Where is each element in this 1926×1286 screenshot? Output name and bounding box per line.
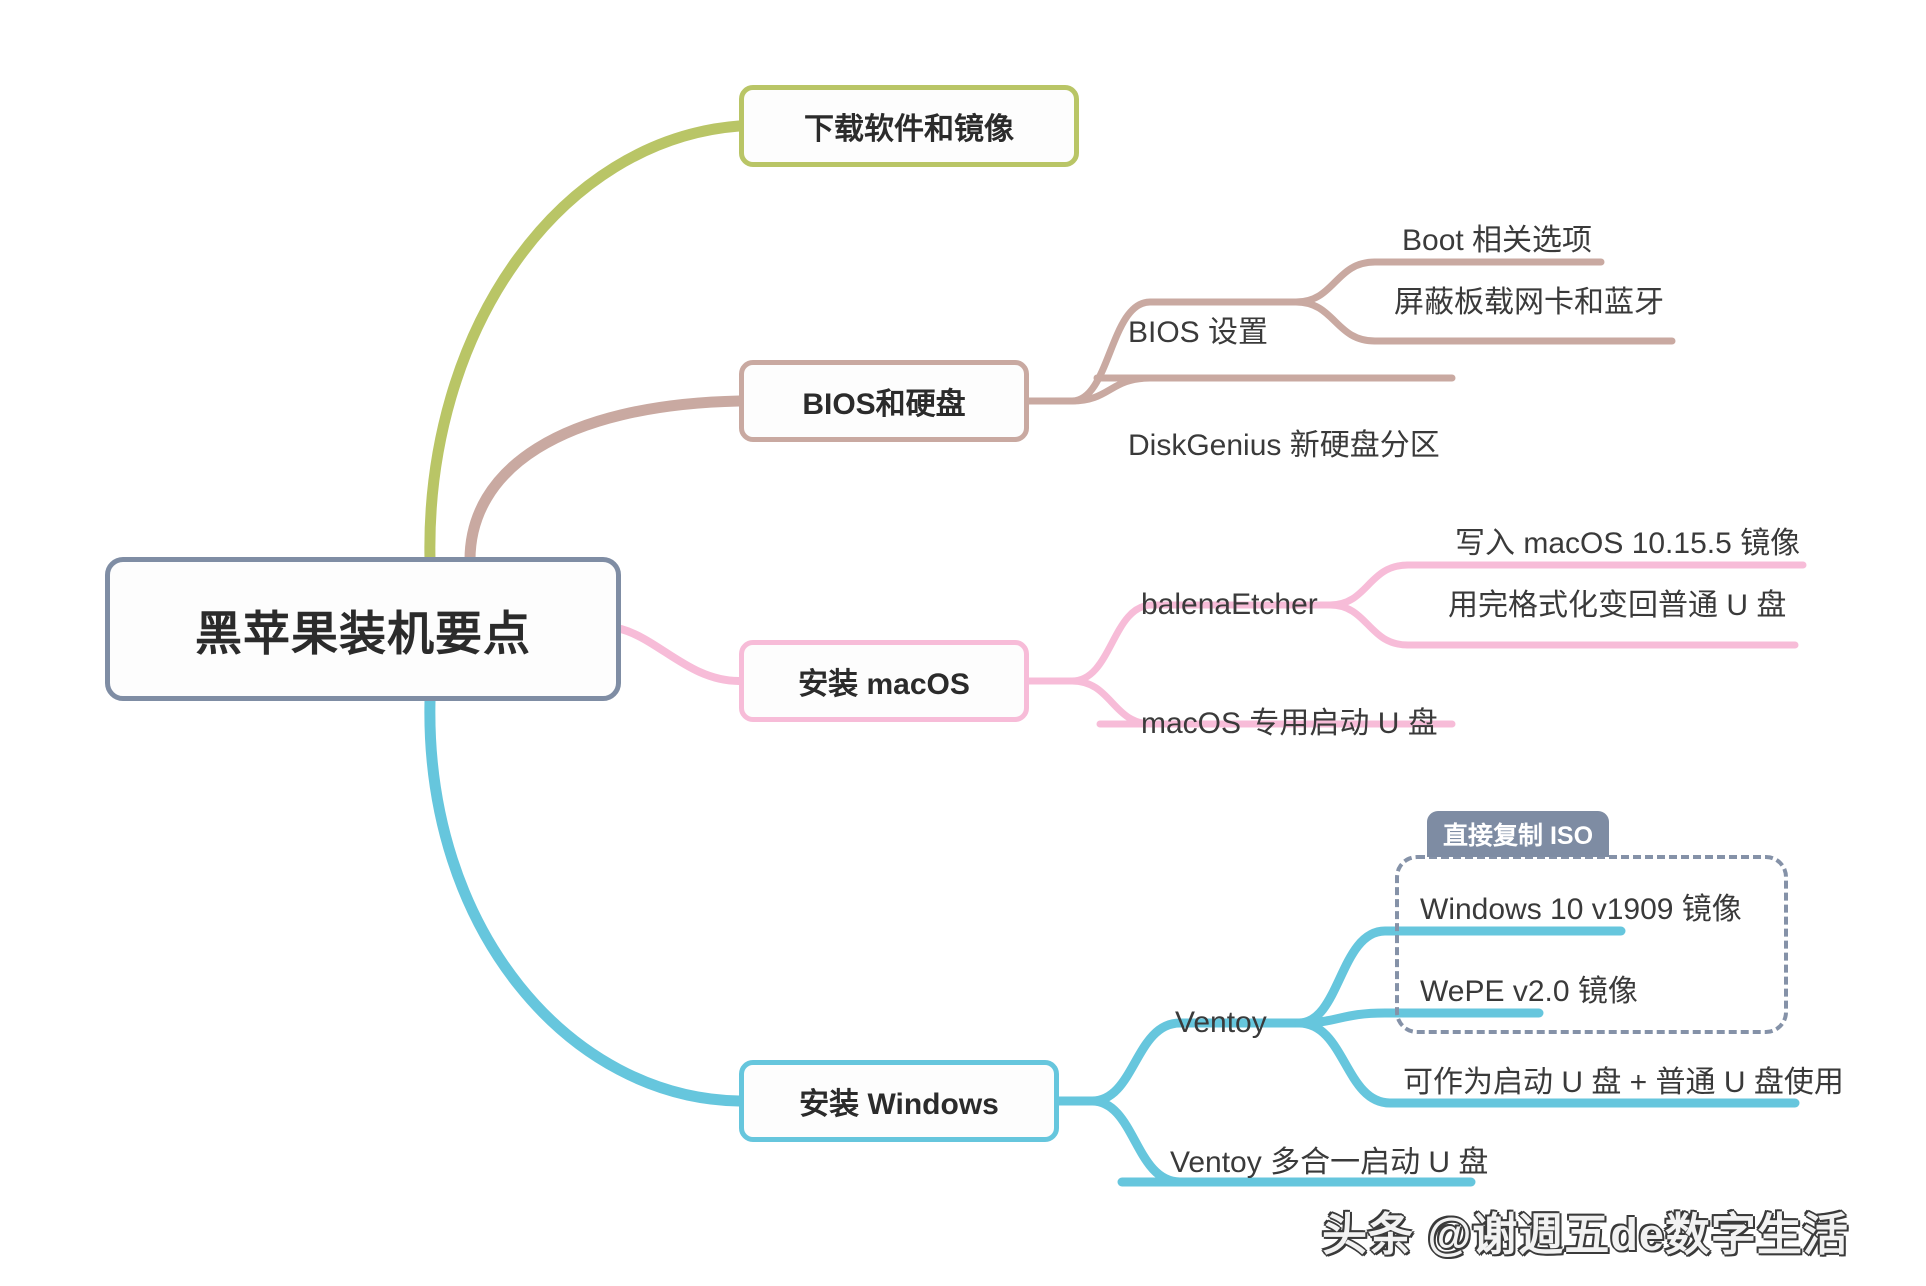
leaf-disable-onboard[interactable]: 屏蔽板载网卡和蓝牙	[1394, 288, 1664, 318]
branch-node-download-label: 下载软件和镜像	[804, 104, 1014, 148]
edge-root-download	[430, 126, 739, 560]
branch-node-bios[interactable]: BIOS和硬盘	[739, 360, 1029, 442]
summary-group-title[interactable]: 直接复制 ISO	[1427, 811, 1609, 857]
leaf-usb-dual-use[interactable]: 可作为启动 U 盘 + 普通 U 盘使用	[1403, 1068, 1844, 1098]
edge-root-bios	[470, 401, 739, 560]
summary-group-title-label: 直接复制 ISO	[1443, 816, 1593, 852]
branch-node-download[interactable]: 下载软件和镜像	[739, 85, 1079, 167]
mindmap-canvas: 黑苹果装机要点 下载软件和镜像 BIOS和硬盘 安装 macOS 安装 Wind…	[0, 0, 1926, 1286]
leaf-format-back-usb[interactable]: 用完格式化变回普通 U 盘	[1448, 591, 1786, 621]
leaf-write-macos-image[interactable]: 写入 macOS 10.15.5 镜像	[1455, 529, 1800, 559]
branch-node-windows[interactable]: 安装 Windows	[739, 1060, 1059, 1142]
branch-node-macos[interactable]: 安装 macOS	[739, 640, 1029, 722]
root-node[interactable]: 黑苹果装机要点	[105, 557, 621, 701]
edge-root-macos	[621, 629, 739, 681]
edge-bios-diskgenius	[1072, 378, 1172, 401]
leaf-boot-options[interactable]: Boot 相关选项	[1402, 226, 1592, 256]
branch-node-bios-label: BIOS和硬盘	[802, 379, 965, 423]
root-node-label: 黑苹果装机要点	[195, 595, 531, 664]
leaf-balena-etcher[interactable]: balenaEtcher	[1141, 590, 1318, 620]
summary-group-box	[1395, 855, 1788, 1034]
watermark: 头条 @谢週五de数字生活	[1322, 1198, 1849, 1263]
leaf-ventoy[interactable]: Ventoy	[1175, 1008, 1267, 1038]
leaf-diskgenius[interactable]: DiskGenius 新硬盘分区	[1128, 431, 1440, 461]
edge-root-windows	[430, 701, 739, 1101]
branch-node-windows-label: 安装 Windows	[799, 1079, 999, 1123]
branch-node-macos-label: 安装 macOS	[798, 659, 970, 703]
edge-ventoy-usage	[1299, 1023, 1420, 1103]
leaf-ventoy-multiboot[interactable]: Ventoy 多合一启动 U 盘	[1170, 1148, 1488, 1178]
leaf-bios-setting[interactable]: BIOS 设置	[1128, 318, 1268, 348]
leaf-macos-boot-usb[interactable]: macOS 专用启动 U 盘	[1141, 709, 1438, 739]
